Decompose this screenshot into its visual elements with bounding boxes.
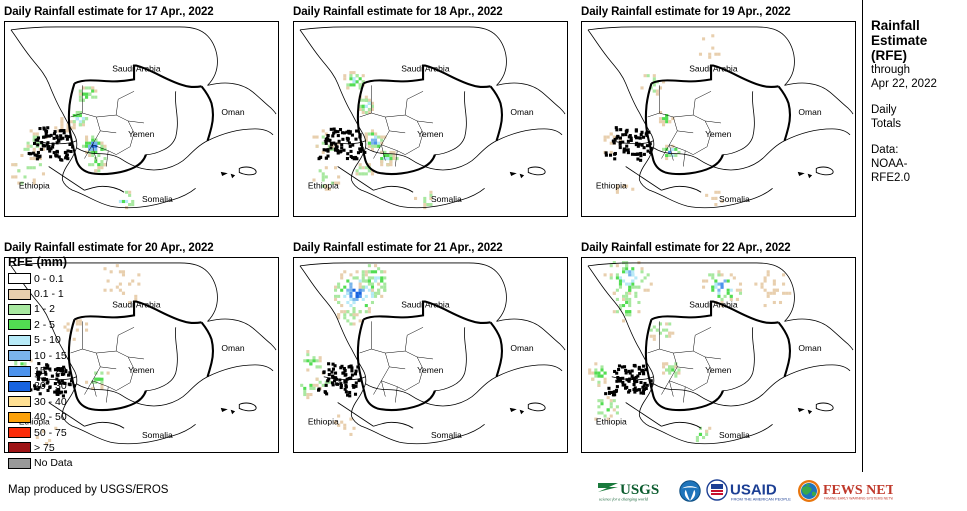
legend-title: RFE (mm) — [8, 255, 106, 269]
sidebar-heading-line1: Rainfall — [871, 18, 967, 33]
legend-label: 15 - 20 — [34, 365, 67, 377]
map-panel-title: Daily Rainfall estimate for 17 Apr., 202… — [0, 4, 285, 20]
agency-logos: USGS science for a changing world USAID … — [596, 479, 893, 503]
sidebar-heading-line2: Estimate — [871, 33, 967, 48]
legend-item: 50 - 75 — [8, 425, 106, 440]
legend-item: 30 - 40 — [8, 394, 106, 409]
label-ethiopia: Ethiopia — [596, 416, 627, 426]
label-yemen: Yemen — [417, 365, 444, 375]
legend-item: 5 - 10 — [8, 333, 106, 348]
map-panel-2022-04-18[interactable]: Daily Rainfall estimate for 18 Apr., 202… — [289, 4, 574, 219]
usaid-logo: USAID FROM THE AMERICAN PEOPLE — [706, 479, 792, 503]
map-panel-title: Daily Rainfall estimate for 21 Apr., 202… — [289, 240, 574, 256]
legend-item: 0.1 - 1 — [8, 286, 106, 301]
label-yemen: Yemen — [705, 129, 732, 139]
sidebar-totals-line2: Totals — [871, 117, 967, 131]
legend-swatch — [8, 412, 31, 423]
legend-item: 1 - 2 — [8, 302, 106, 317]
legend-label: 40 - 50 — [34, 411, 67, 423]
map-panel-title: Daily Rainfall estimate for 22 Apr., 202… — [577, 240, 862, 256]
label-yemen: Yemen — [705, 365, 732, 375]
legend-label: > 75 — [34, 442, 55, 454]
legend-label: 20 - 30 — [34, 380, 67, 392]
map-panel-title: Daily Rainfall estimate for 20 Apr., 202… — [0, 240, 285, 256]
sidebar-data-line2: NOAA- — [871, 157, 967, 171]
legend-item: 2 - 5 — [8, 317, 106, 332]
label-yemen: Yemen — [128, 129, 155, 139]
legend-label: 30 - 40 — [34, 396, 67, 408]
legend-item: 10 - 15 — [8, 348, 106, 363]
legend-label: 0 - 0.1 — [34, 273, 64, 285]
legend-item: 20 - 30 — [8, 379, 106, 394]
map-panel-2022-04-21[interactable]: Daily Rainfall estimate for 21 Apr., 202… — [289, 240, 574, 455]
map-panel-title: Daily Rainfall estimate for 19 Apr., 202… — [577, 4, 862, 20]
sidebar-totals-line1: Daily — [871, 103, 967, 117]
legend-swatch — [8, 319, 31, 330]
label-yemen: Yemen — [128, 365, 155, 375]
legend-label: 5 - 10 — [34, 334, 61, 346]
svg-text:FAMINE EARLY WARNING SYSTEMS N: FAMINE EARLY WARNING SYSTEMS NETWORK — [824, 497, 893, 501]
map-panel-2022-04-19[interactable]: Daily Rainfall estimate for 19 Apr., 202… — [577, 4, 862, 219]
label-somalia: Somalia — [431, 430, 462, 440]
map-panel-2022-04-17[interactable]: Daily Rainfall estimate for 17 Apr., 202… — [0, 4, 285, 219]
map-panel-title: Daily Rainfall estimate for 18 Apr., 202… — [289, 4, 574, 20]
label-ethiopia: Ethiopia — [19, 180, 50, 190]
label-saudi-arabia: Saudi Arabia — [689, 64, 738, 74]
legend-item: 40 - 50 — [8, 410, 106, 425]
legend-swatch — [8, 350, 31, 361]
sidebar-through-date: Apr 22, 2022 — [871, 77, 967, 91]
sidebar-heading-line3: (RFE) — [871, 48, 967, 63]
legend-swatch — [8, 304, 31, 315]
sidebar-through-label: through — [871, 63, 967, 77]
legend: RFE (mm) 0 - 0.10.1 - 11 - 22 - 55 - 101… — [8, 255, 106, 471]
legend-swatch — [8, 289, 31, 300]
label-oman: Oman — [510, 107, 533, 117]
map-frame[interactable]: Saudi Arabia Oman Yemen Ethiopia Somalia — [4, 21, 279, 217]
fewsnet-logo: FEWS NET FAMINE EARLY WARNING SYSTEMS NE… — [797, 479, 893, 503]
label-saudi-arabia: Saudi Arabia — [401, 300, 450, 310]
map-frame[interactable]: Saudi Arabia Oman Yemen Ethiopia Somalia — [581, 21, 856, 217]
legend-label: 10 - 15 — [34, 350, 67, 362]
label-somalia: Somalia — [142, 430, 173, 440]
label-ethiopia: Ethiopia — [308, 416, 339, 426]
legend-item: 15 - 20 — [8, 363, 106, 378]
legend-swatch — [8, 273, 31, 284]
legend-swatch — [8, 366, 31, 377]
label-oman: Oman — [510, 343, 533, 353]
legend-label: 2 - 5 — [34, 319, 55, 331]
usgs-logo: USGS science for a changing world — [596, 479, 674, 503]
legend-label: 0.1 - 1 — [34, 288, 64, 300]
map-frame[interactable]: Saudi Arabia Oman Yemen Ethiopia Somalia — [293, 257, 568, 453]
label-oman: Oman — [221, 343, 244, 353]
label-saudi-arabia: Saudi Arabia — [401, 64, 450, 74]
sidebar: Rainfall Estimate (RFE) through Apr 22, … — [862, 0, 967, 472]
noaa-logo — [679, 479, 701, 503]
sidebar-data-line3: RFE2.0 — [871, 171, 967, 185]
label-oman: Oman — [798, 343, 821, 353]
legend-label: 1 - 2 — [34, 303, 55, 315]
svg-text:science for a changing world: science for a changing world — [599, 497, 649, 502]
label-somalia: Somalia — [719, 430, 750, 440]
legend-swatch — [8, 427, 31, 438]
legend-label: 50 - 75 — [34, 427, 67, 439]
label-ethiopia: Ethiopia — [308, 180, 339, 190]
map-credit: Map produced by USGS/EROS — [8, 484, 168, 496]
label-ethiopia: Ethiopia — [596, 180, 627, 190]
legend-item: No Data — [8, 456, 106, 471]
legend-swatch — [8, 335, 31, 346]
label-oman: Oman — [798, 107, 821, 117]
label-somalia: Somalia — [431, 194, 462, 204]
map-frame[interactable]: Saudi Arabia Oman Yemen Ethiopia Somalia — [293, 21, 568, 217]
legend-swatch — [8, 458, 31, 469]
sidebar-data-line1: Data: — [871, 143, 967, 157]
label-saudi-arabia: Saudi Arabia — [112, 64, 161, 74]
svg-text:FROM THE AMERICAN PEOPLE: FROM THE AMERICAN PEOPLE — [731, 497, 791, 502]
map-panel-grid: Daily Rainfall estimate for 17 Apr., 202… — [0, 0, 862, 472]
map-panel-2022-04-22[interactable]: Daily Rainfall estimate for 22 Apr., 202… — [577, 240, 862, 455]
legend-label: No Data — [34, 457, 73, 469]
label-yemen: Yemen — [417, 129, 444, 139]
legend-rows: 0 - 0.10.1 - 11 - 22 - 55 - 1010 - 1515 … — [8, 271, 106, 471]
label-saudi-arabia: Saudi Arabia — [689, 300, 738, 310]
legend-swatch — [8, 381, 31, 392]
label-saudi-arabia: Saudi Arabia — [112, 300, 161, 310]
label-somalia: Somalia — [719, 194, 750, 204]
legend-item: 0 - 0.1 — [8, 271, 106, 286]
label-somalia: Somalia — [142, 194, 173, 204]
label-oman: Oman — [221, 107, 244, 117]
legend-swatch — [8, 396, 31, 407]
legend-item: > 75 — [8, 440, 106, 455]
legend-swatch — [8, 442, 31, 453]
map-frame[interactable]: Saudi Arabia Oman Yemen Ethiopia Somalia — [581, 257, 856, 453]
